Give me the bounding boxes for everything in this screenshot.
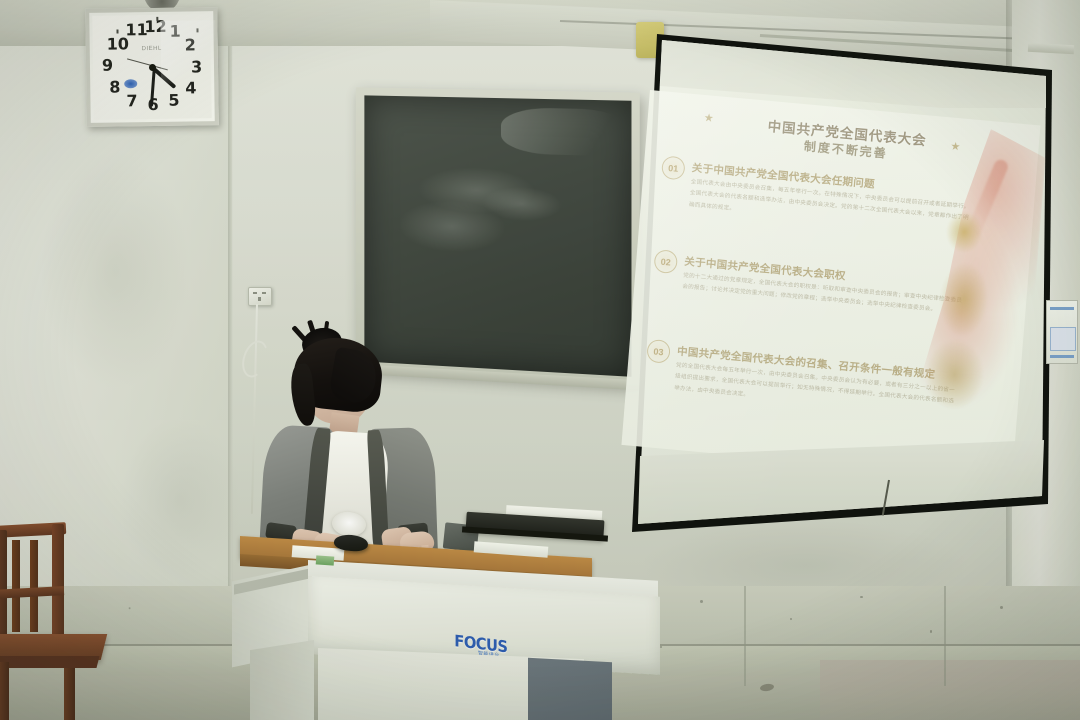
clock-center-pin — [148, 63, 155, 70]
floor-patch — [820, 660, 1080, 720]
projector-screen: ★ ★ 中国共产党全国代表大会 制度不断完善 01 关于中国共产党全国代表大会任… — [632, 34, 1052, 532]
chair-slat — [30, 540, 38, 632]
clock-second-hand — [127, 58, 168, 70]
clock-numeral-4: 4 — [185, 80, 196, 96]
wall-stain — [120, 420, 240, 580]
chair-apron — [0, 656, 99, 668]
wall-notice — [1046, 300, 1078, 364]
clock-numeral-9: 9 — [102, 58, 113, 74]
wall-stain — [40, 150, 190, 390]
clock-numeral-5: 5 — [168, 93, 179, 109]
clock-numeral-7: 7 — [126, 93, 137, 109]
presentation-slide: ★ ★ 中国共产党全国代表大会 制度不断完善 01 关于中国共产党全国代表大会任… — [621, 90, 1040, 480]
wooden-chair — [0, 522, 78, 720]
chair-back-post — [52, 524, 64, 638]
chair-back-post — [0, 530, 7, 638]
clock-numeral-2: 2 — [185, 37, 196, 53]
clock-numeral-11: 11 — [125, 22, 147, 38]
clock-numeral-3: 3 — [191, 59, 202, 75]
clock-face: DIEHL 12 1 2 3 4 5 6 7 8 9 10 11 — [92, 14, 211, 120]
platform-seam — [944, 586, 946, 686]
clock-brand-label: DIEHL — [142, 46, 162, 52]
chair-leg — [0, 662, 9, 720]
lectern-access-panel[interactable] — [528, 658, 612, 720]
chair-leg — [64, 668, 75, 720]
clock-numeral-1: 1 — [169, 24, 180, 40]
golden-statue-graphic — [911, 208, 1012, 425]
chair-slat — [12, 540, 20, 632]
wall-clock: DIEHL 12 1 2 3 4 5 6 7 8 9 10 11 — [85, 7, 219, 127]
platform-seam — [744, 586, 746, 686]
classroom-scene: DIEHL 12 1 2 3 4 5 6 7 8 9 10 11 — [0, 0, 1080, 720]
lectern-column — [250, 640, 314, 720]
wall-outlet[interactable] — [248, 287, 272, 306]
clock-logo — [124, 80, 137, 89]
green-tab — [316, 555, 335, 565]
blackboard-glare — [501, 107, 628, 157]
clock-numeral-8: 8 — [109, 79, 120, 95]
